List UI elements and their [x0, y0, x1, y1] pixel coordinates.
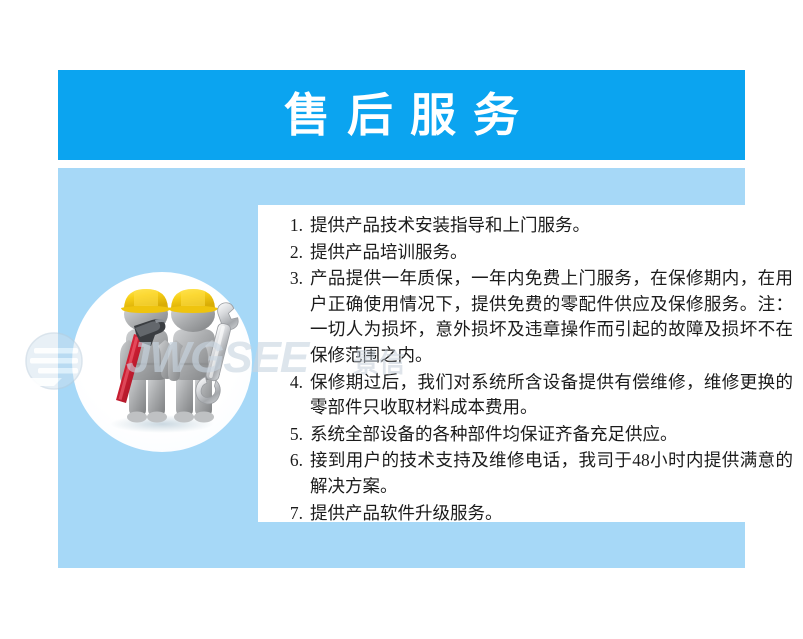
- list-item: 产品提供一年质保，一年内免费上门服务，在保修期内，在用户正确使用情况下，提供免费…: [310, 266, 793, 368]
- list-item: 提供产品技术安装指导和上门服务。: [310, 213, 793, 239]
- list-item: 接到用户的技术支持及维修电话，我司于48小时内提供满意的解决方案。: [310, 448, 793, 499]
- list-item: 提供产品软件升级服务。: [310, 501, 793, 522]
- list-item: 提供产品培训服务。: [310, 240, 793, 266]
- service-list: 提供产品技术安装指导和上门服务。 提供产品培训服务。 产品提供一年质保，一年内免…: [258, 213, 803, 522]
- after-sales-service-poster: 售后服务: [0, 0, 803, 639]
- workers-icon: [72, 272, 252, 452]
- poster-header-bar: 售后服务: [58, 70, 745, 160]
- service-workers-illustration: [72, 272, 252, 452]
- list-item: 保修期过后，我们对系统所含设备提供有偿维修，维修更换的零部件只收取材料成本费用。: [310, 370, 793, 421]
- service-list-card: 提供产品技术安装指导和上门服务。 提供产品培训服务。 产品提供一年质保，一年内免…: [258, 205, 803, 522]
- page-title: 售后服务: [267, 92, 536, 138]
- list-item: 系统全部设备的各种部件均保证齐备充足供应。: [310, 422, 793, 448]
